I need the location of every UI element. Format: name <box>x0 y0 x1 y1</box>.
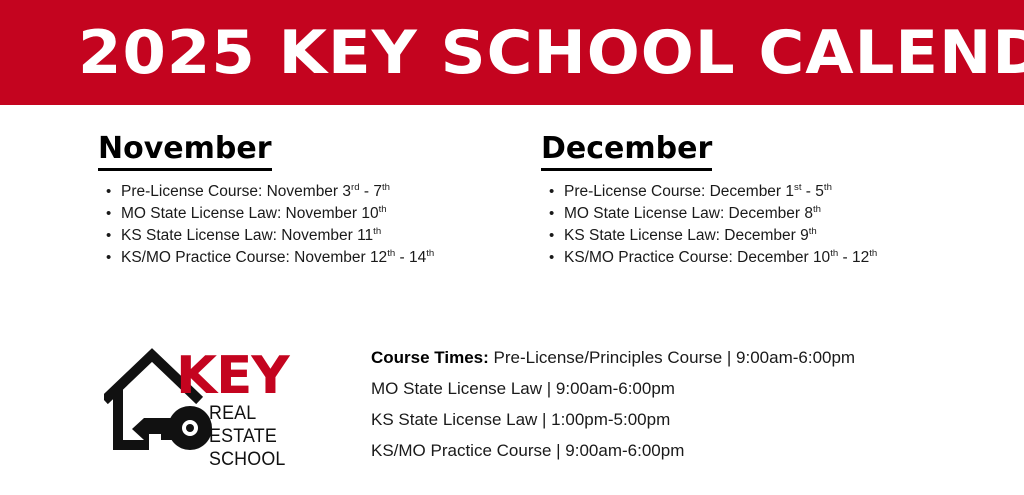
ordinal-suffix: th <box>809 225 817 236</box>
course-times-label: Course Times: <box>371 348 489 367</box>
ordinal-suffix: th <box>824 181 832 192</box>
header-banner: 2025 KEY SCHOOL CALENDAR <box>0 0 1024 105</box>
item-text-mid: - 14 <box>395 249 426 266</box>
key-notch-icon <box>149 428 161 434</box>
item-text-mid: - 7 <box>360 183 382 200</box>
key-pin-icon <box>186 424 194 432</box>
list-item: MO State License Law: December 8th <box>541 203 877 225</box>
course-times-block: Course Times: Pre-License/Principles Cou… <box>371 342 971 466</box>
list-item: Pre-License Course: November 3rd - 7th <box>98 181 434 203</box>
ordinal-suffix: th <box>373 225 381 236</box>
ordinal-suffix: th <box>387 247 395 258</box>
course-times-row: Course Times: Pre-License/Principles Cou… <box>371 342 971 373</box>
month-heading-december: December <box>541 132 712 171</box>
logo-wordmark: KEY <box>176 350 289 402</box>
course-times-row: KS/MO Practice Course | 9:00am-6:00pm <box>371 435 971 466</box>
month-heading-november: November <box>98 132 272 171</box>
month-column-december: December Pre-License Course: December 1s… <box>541 132 877 269</box>
list-item: MO State License Law: November 10th <box>98 203 434 225</box>
list-item: KS/MO Practice Course: December 10th - 1… <box>541 247 877 269</box>
page-title: 2025 KEY SCHOOL CALENDAR <box>78 23 1024 83</box>
item-text-mid: - 12 <box>838 249 869 266</box>
item-text: MO State License Law: December 8 <box>564 205 813 222</box>
item-text: MO State License Law: November 10 <box>121 205 379 222</box>
logo-subtitle-line1: REAL ESTATE <box>209 402 327 448</box>
course-times-row: MO State License Law | 9:00am-6:00pm <box>371 373 971 404</box>
item-text: Pre-License Course: November 3 <box>121 183 351 200</box>
item-text: KS/MO Practice Course: December 10 <box>564 249 830 266</box>
logo-subtitle: REAL ESTATE SCHOOL <box>209 402 327 471</box>
ordinal-suffix: th <box>382 181 390 192</box>
list-item: KS State License Law: December 9th <box>541 225 877 247</box>
ordinal-suffix: st <box>794 181 801 192</box>
item-text: KS/MO Practice Course: November 12 <box>121 249 387 266</box>
ordinal-suffix: th <box>869 247 877 258</box>
item-text: KS State License Law: December 9 <box>564 227 809 244</box>
brand-logo: KEY REAL ESTATE SCHOOL <box>104 342 334 472</box>
ordinal-suffix: rd <box>351 181 360 192</box>
list-item: KS/MO Practice Course: November 12th - 1… <box>98 247 434 269</box>
item-text: KS State License Law: November 11 <box>121 227 373 244</box>
ordinal-suffix: th <box>426 247 434 258</box>
ordinal-suffix: th <box>379 203 387 214</box>
list-item: KS State License Law: November 11th <box>98 225 434 247</box>
footer-section: KEY REAL ESTATE SCHOOL Course Times: Pre… <box>0 330 1024 495</box>
logo-subtitle-line2: SCHOOL <box>209 448 327 471</box>
month-column-november: November Pre-License Course: November 3r… <box>98 132 434 269</box>
month-list-november: Pre-License Course: November 3rd - 7th M… <box>98 181 434 269</box>
calendar-months: November Pre-License Course: November 3r… <box>0 132 1024 292</box>
house-wall-icon <box>118 392 144 445</box>
course-times-row: KS State License Law | 1:00pm-5:00pm <box>371 404 971 435</box>
list-item: Pre-License Course: December 1st - 5th <box>541 181 877 203</box>
item-text: Pre-License Course: December 1 <box>564 183 794 200</box>
ordinal-suffix: th <box>813 203 821 214</box>
month-list-december: Pre-License Course: December 1st - 5th M… <box>541 181 877 269</box>
course-times-value: Pre-License/Principles Course | 9:00am-6… <box>494 348 856 367</box>
item-text-mid: - 5 <box>802 183 824 200</box>
ordinal-suffix: th <box>830 247 838 258</box>
